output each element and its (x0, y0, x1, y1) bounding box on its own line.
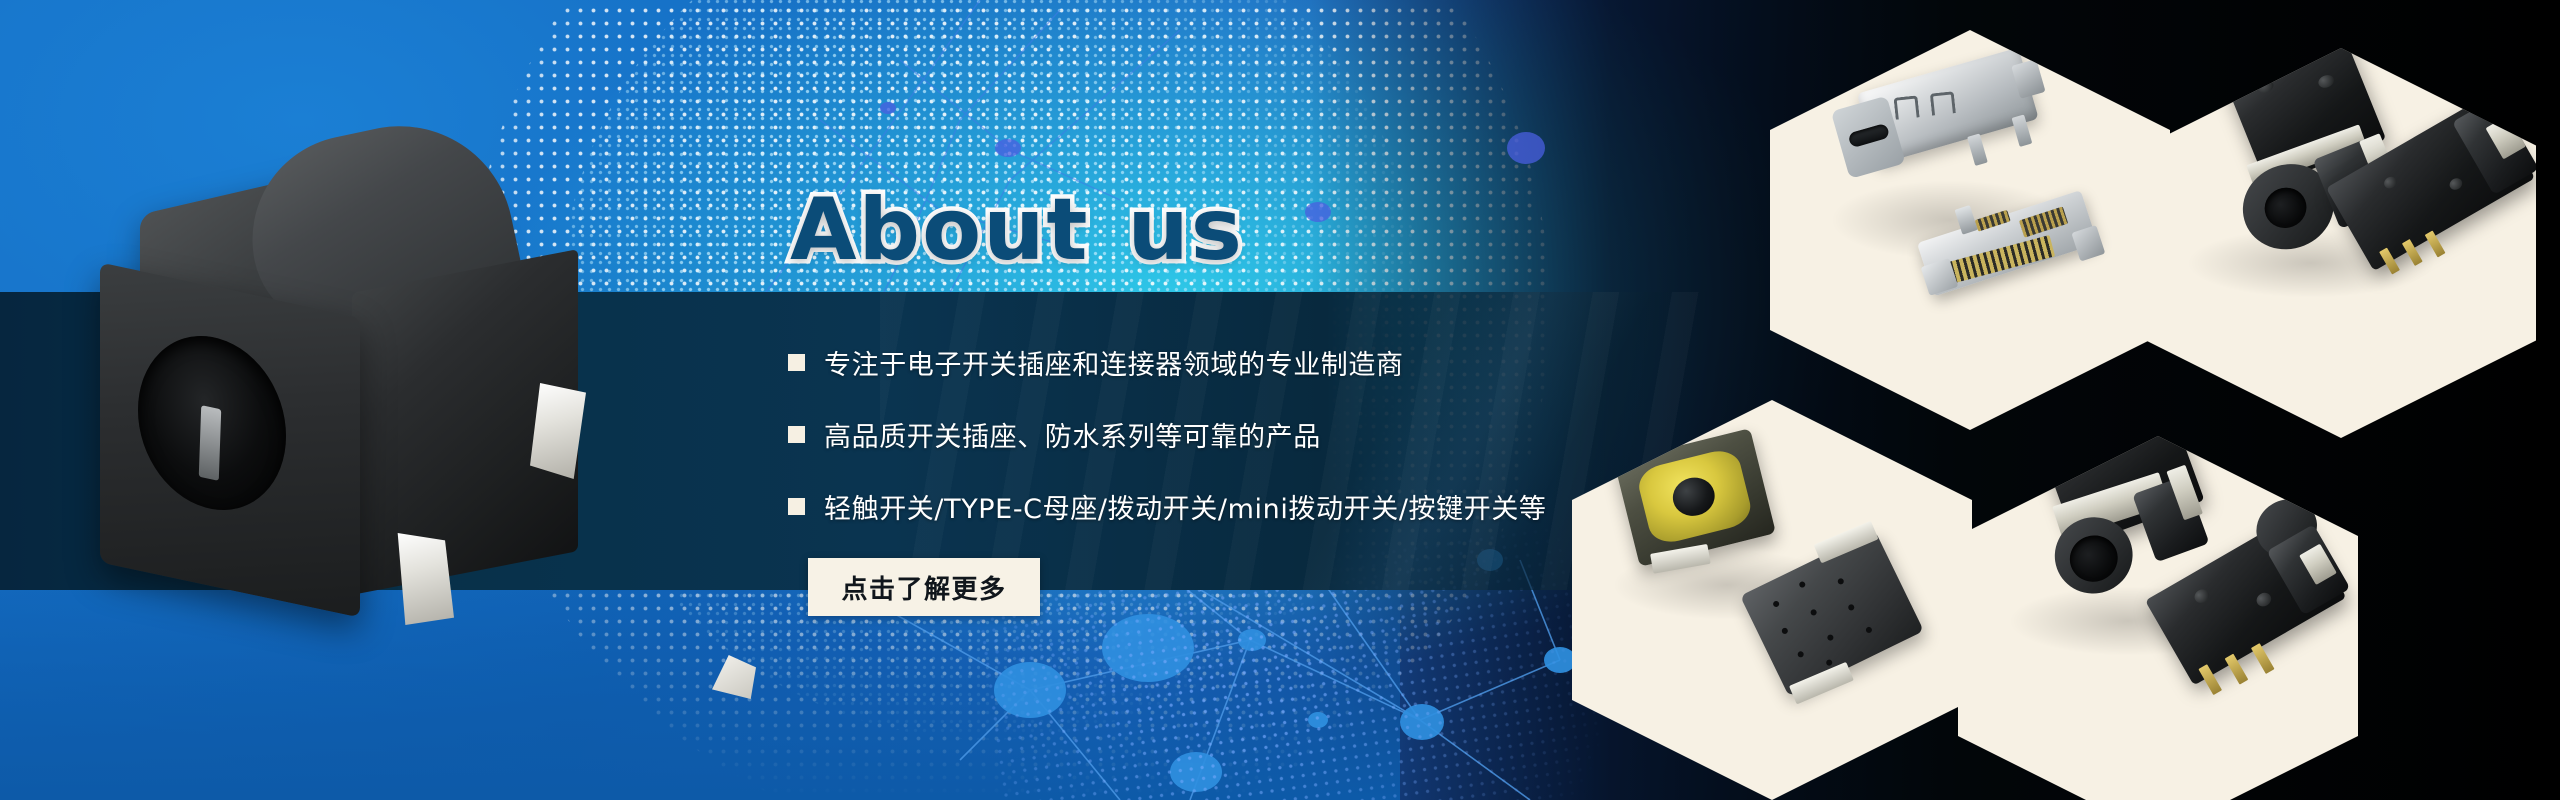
list-item-label: 轻触开关/TYPE-C母座/拨动开关/mini拨动开关/按键开关等 (824, 487, 1547, 526)
feature-list: 专注于电子开关插座和连接器领域的专业制造商 高品质开关插座、防水系列等可靠的产品… (788, 340, 1547, 556)
list-item-label: 专注于电子开关插座和连接器领域的专业制造商 (824, 343, 1404, 382)
list-item: 轻触开关/TYPE-C母座/拨动开关/mini拨动开关/按键开关等 (788, 484, 1547, 528)
square-bullet-icon (788, 498, 805, 515)
page-title-word-1: About (790, 180, 1090, 280)
page-title-word-2: us (1128, 180, 1244, 280)
page-title: Aboutus (790, 180, 1244, 280)
list-item-label: 高品质开关插座、防水系列等可靠的产品 (824, 415, 1321, 454)
square-bullet-icon (788, 426, 805, 443)
banner-stage: Aboutus 专注于电子开关插座和连接器领域的专业制造商 高品质开关插座、防水… (0, 0, 2560, 800)
hero-product-dc-power-jack (60, 95, 680, 635)
list-item: 高品质开关插座、防水系列等可靠的产品 (788, 412, 1547, 456)
list-item: 专注于电子开关插座和连接器领域的专业制造商 (788, 340, 1547, 384)
square-bullet-icon (788, 354, 805, 371)
learn-more-button[interactable]: 点击了解更多 (808, 558, 1040, 616)
